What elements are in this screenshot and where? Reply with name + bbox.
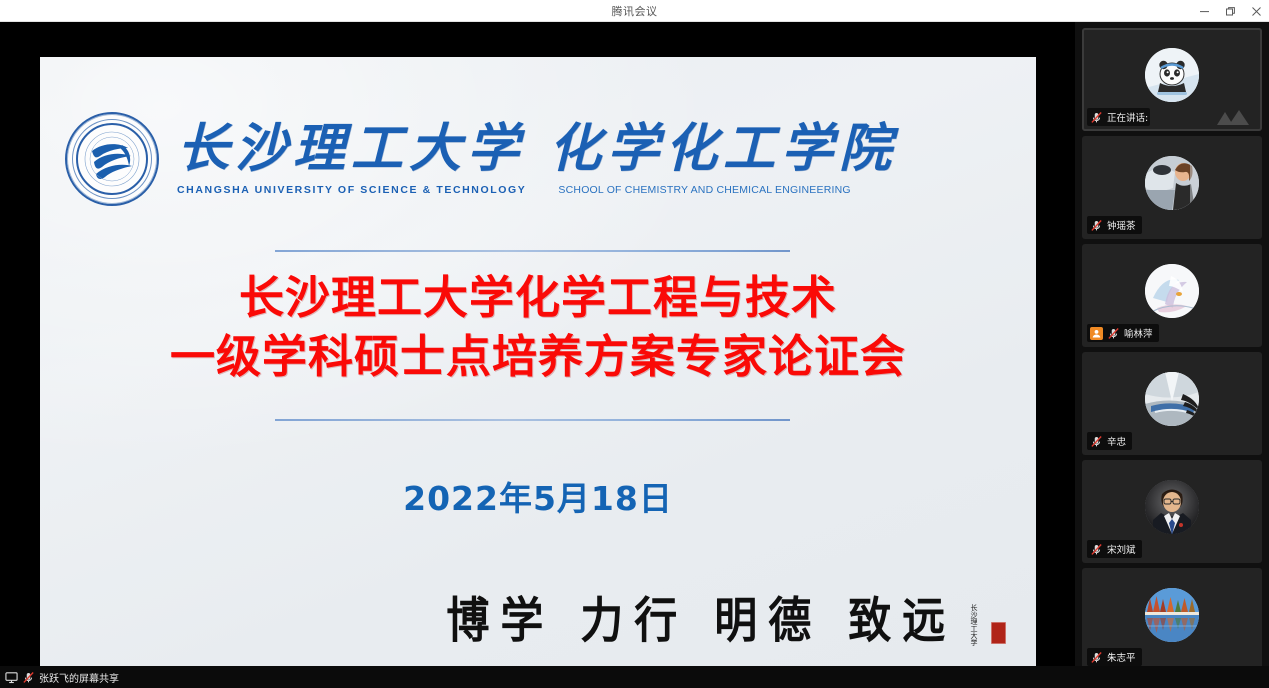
participant-tile[interactable]: 喻林萍 — [1082, 244, 1262, 347]
slide-title-line-1: 长沙理工大学化学工程与技术 — [239, 271, 837, 324]
avatar — [1145, 480, 1199, 534]
screen-share-statusbar: 张跃飞的屏幕共享 — [0, 666, 1269, 688]
audio-wave-icon — [1215, 108, 1255, 126]
woman-car-avatar-icon — [1145, 156, 1199, 210]
mic-muted-icon — [1090, 111, 1103, 124]
slide-date: 2022年5月18日 — [40, 472, 1036, 520]
seal-emblem-icon — [82, 129, 142, 189]
train-station-avatar-icon — [1145, 372, 1199, 426]
window-title: 腾讯会议 — [612, 3, 658, 19]
participant-tile[interactable]: 正在讲话: — [1082, 28, 1262, 131]
tile-label: 辛忠 — [1087, 432, 1132, 450]
participant-name: 辛忠 — [1107, 434, 1126, 448]
divider-bottom — [275, 419, 790, 421]
minimize-button[interactable] — [1191, 0, 1217, 22]
minimize-icon — [1199, 6, 1210, 17]
autumn-lake-avatar-icon — [1145, 588, 1199, 642]
mic-muted-icon — [1090, 651, 1103, 664]
mic-muted-icon — [1090, 219, 1103, 232]
share-status-text: 张跃飞的屏幕共享 — [39, 670, 119, 685]
participant-name: 朱志平 — [1107, 650, 1136, 664]
wordmark-english-school: SCHOOL OF CHEMISTRY AND CHEMICAL ENGINEE… — [558, 184, 850, 196]
letterbox-top — [40, 22, 1036, 57]
motto-calligraphy-text: 博学 力行 明德 致远 — [446, 598, 956, 646]
avatar — [1145, 156, 1199, 210]
motto-signature: 长沙理工大学 — [969, 604, 978, 646]
tile-label: 钟瑶茶 — [1087, 216, 1142, 234]
close-button[interactable] — [1243, 0, 1269, 22]
meeting-stage: 长沙理工大学 化学化工学院 CHANGSHA UNIVERSITY OF SCI… — [0, 22, 1269, 666]
close-icon — [1251, 6, 1262, 17]
speaking-status-label: 正在讲话: — [1107, 110, 1148, 124]
participant-tile[interactable]: 钟瑶茶 — [1082, 136, 1262, 239]
participant-name: 喻林萍 — [1124, 326, 1153, 340]
restore-icon — [1225, 6, 1236, 17]
tile-label: 喻林萍 — [1087, 324, 1159, 342]
panda-avatar-icon — [1145, 48, 1199, 102]
slide-title: 长沙理工大学化学工程与技术 一级学科硕士点培养方案专家论证会 — [40, 269, 1036, 386]
slide-header: 长沙理工大学 化学化工学院 CHANGSHA UNIVERSITY OF SCI… — [65, 105, 1016, 213]
tencent-meeting-window: 腾讯会议 — [0, 0, 1269, 688]
wordmark-english-university: CHANGSHA UNIVERSITY OF SCIENCE & TECHNOL… — [177, 184, 526, 196]
wordmark-english: CHANGSHA UNIVERSITY OF SCIENCE & TECHNOL… — [177, 184, 1016, 196]
tile-label: 朱志平 — [1087, 648, 1142, 666]
restore-button[interactable] — [1217, 0, 1243, 22]
presentation-slide: 长沙理工大学 化学化工学院 CHANGSHA UNIVERSITY OF SCI… — [40, 57, 1036, 670]
man-suit-avatar-icon — [1145, 480, 1199, 534]
participant-rail[interactable]: 正在讲话: — [1075, 22, 1269, 666]
abstract-flower-avatar-icon — [1145, 264, 1199, 318]
university-logo-icon — [65, 112, 159, 206]
mic-muted-icon — [22, 671, 35, 684]
window-controls — [1191, 0, 1269, 22]
university-motto: 博学 力行 明德 致远 长沙理工大学 — [446, 603, 1006, 646]
participant-tile[interactable]: 朱志平 — [1082, 568, 1262, 666]
participant-tile[interactable]: 辛忠 — [1082, 352, 1262, 455]
shared-screen-area[interactable]: 长沙理工大学 化学化工学院 CHANGSHA UNIVERSITY OF SCI… — [0, 22, 1075, 666]
avatar — [1145, 588, 1199, 642]
red-seal-stamp-icon — [991, 622, 1006, 644]
participant-name: 宋刘斌 — [1107, 542, 1136, 556]
slide-title-line-2: 一级学科硕士点培养方案专家论证会 — [40, 328, 1036, 387]
participant-name: 钟瑶茶 — [1107, 218, 1136, 232]
monitor-icon — [5, 671, 18, 684]
avatar — [1145, 264, 1199, 318]
divider-top — [275, 250, 790, 252]
wordmark-chinese: 长沙理工大学 化学化工学院 — [177, 123, 1016, 175]
mic-muted-icon — [1090, 543, 1103, 556]
participant-tile[interactable]: 宋刘斌 — [1082, 460, 1262, 563]
window-titlebar: 腾讯会议 — [0, 0, 1269, 22]
tile-label: 正在讲话: — [1087, 108, 1150, 126]
host-badge-icon — [1090, 327, 1103, 340]
mic-muted-icon — [1090, 435, 1103, 448]
wordmark: 长沙理工大学 化学化工学院 CHANGSHA UNIVERSITY OF SCI… — [177, 123, 1016, 196]
avatar — [1145, 372, 1199, 426]
mic-muted-icon — [1107, 327, 1120, 340]
avatar — [1145, 48, 1199, 102]
tile-label: 宋刘斌 — [1087, 540, 1142, 558]
